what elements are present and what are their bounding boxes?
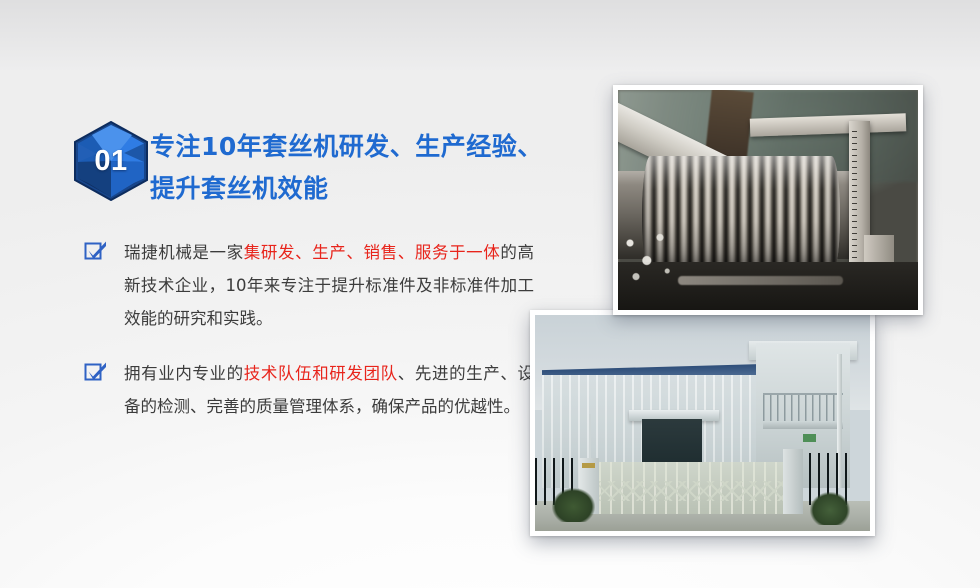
threaded-pipe-photo <box>613 85 923 315</box>
checkbox-checked-icon <box>84 361 108 383</box>
heading-line-1: 专注10年套丝机研发、生产经验、 <box>150 126 550 168</box>
heading-line-2: 提升套丝机效能 <box>150 168 550 210</box>
list-item: 拥有业内专业的技术队伍和研发团队、先进的生产、设备的检测、完善的质量管理体系，确… <box>84 357 534 423</box>
checkbox-checked-icon <box>84 240 108 262</box>
text-highlight: 技术队伍和研发团队 <box>244 364 398 383</box>
list-item-text: 拥有业内专业的技术队伍和研发团队、先进的生产、设备的检测、完善的质量管理体系，确… <box>124 357 534 423</box>
list-item: 瑞捷机械是一家集研发、生产、销售、服务于一体的高新技术企业，10年来专注于提升标… <box>84 236 534 335</box>
content-column: 01 专注10年套丝机研发、生产经验、 提升套丝机效能 瑞捷机械是一家集研发、生… <box>0 0 560 588</box>
factory-building-photo <box>530 310 875 536</box>
text-highlight: 集研发、生产、销售、服务于一体 <box>244 243 501 262</box>
banner-stage: 01 专注10年套丝机研发、生产经验、 提升套丝机效能 瑞捷机械是一家集研发、生… <box>0 0 980 588</box>
badge-number: 01 <box>72 121 150 201</box>
text-plain: 瑞捷机械是一家 <box>124 243 244 262</box>
factory-scene <box>535 315 870 531</box>
page-title: 专注10年套丝机研发、生产经验、 提升套丝机效能 <box>150 126 550 210</box>
threaded-pipe-scene <box>618 90 918 310</box>
text-plain: 拥有业内专业的 <box>124 364 244 383</box>
list-item-text: 瑞捷机械是一家集研发、生产、销售、服务于一体的高新技术企业，10年来专注于提升标… <box>124 236 534 335</box>
feature-list: 瑞捷机械是一家集研发、生产、销售、服务于一体的高新技术企业，10年来专注于提升标… <box>84 236 534 445</box>
step-number-badge: 01 <box>72 121 150 201</box>
